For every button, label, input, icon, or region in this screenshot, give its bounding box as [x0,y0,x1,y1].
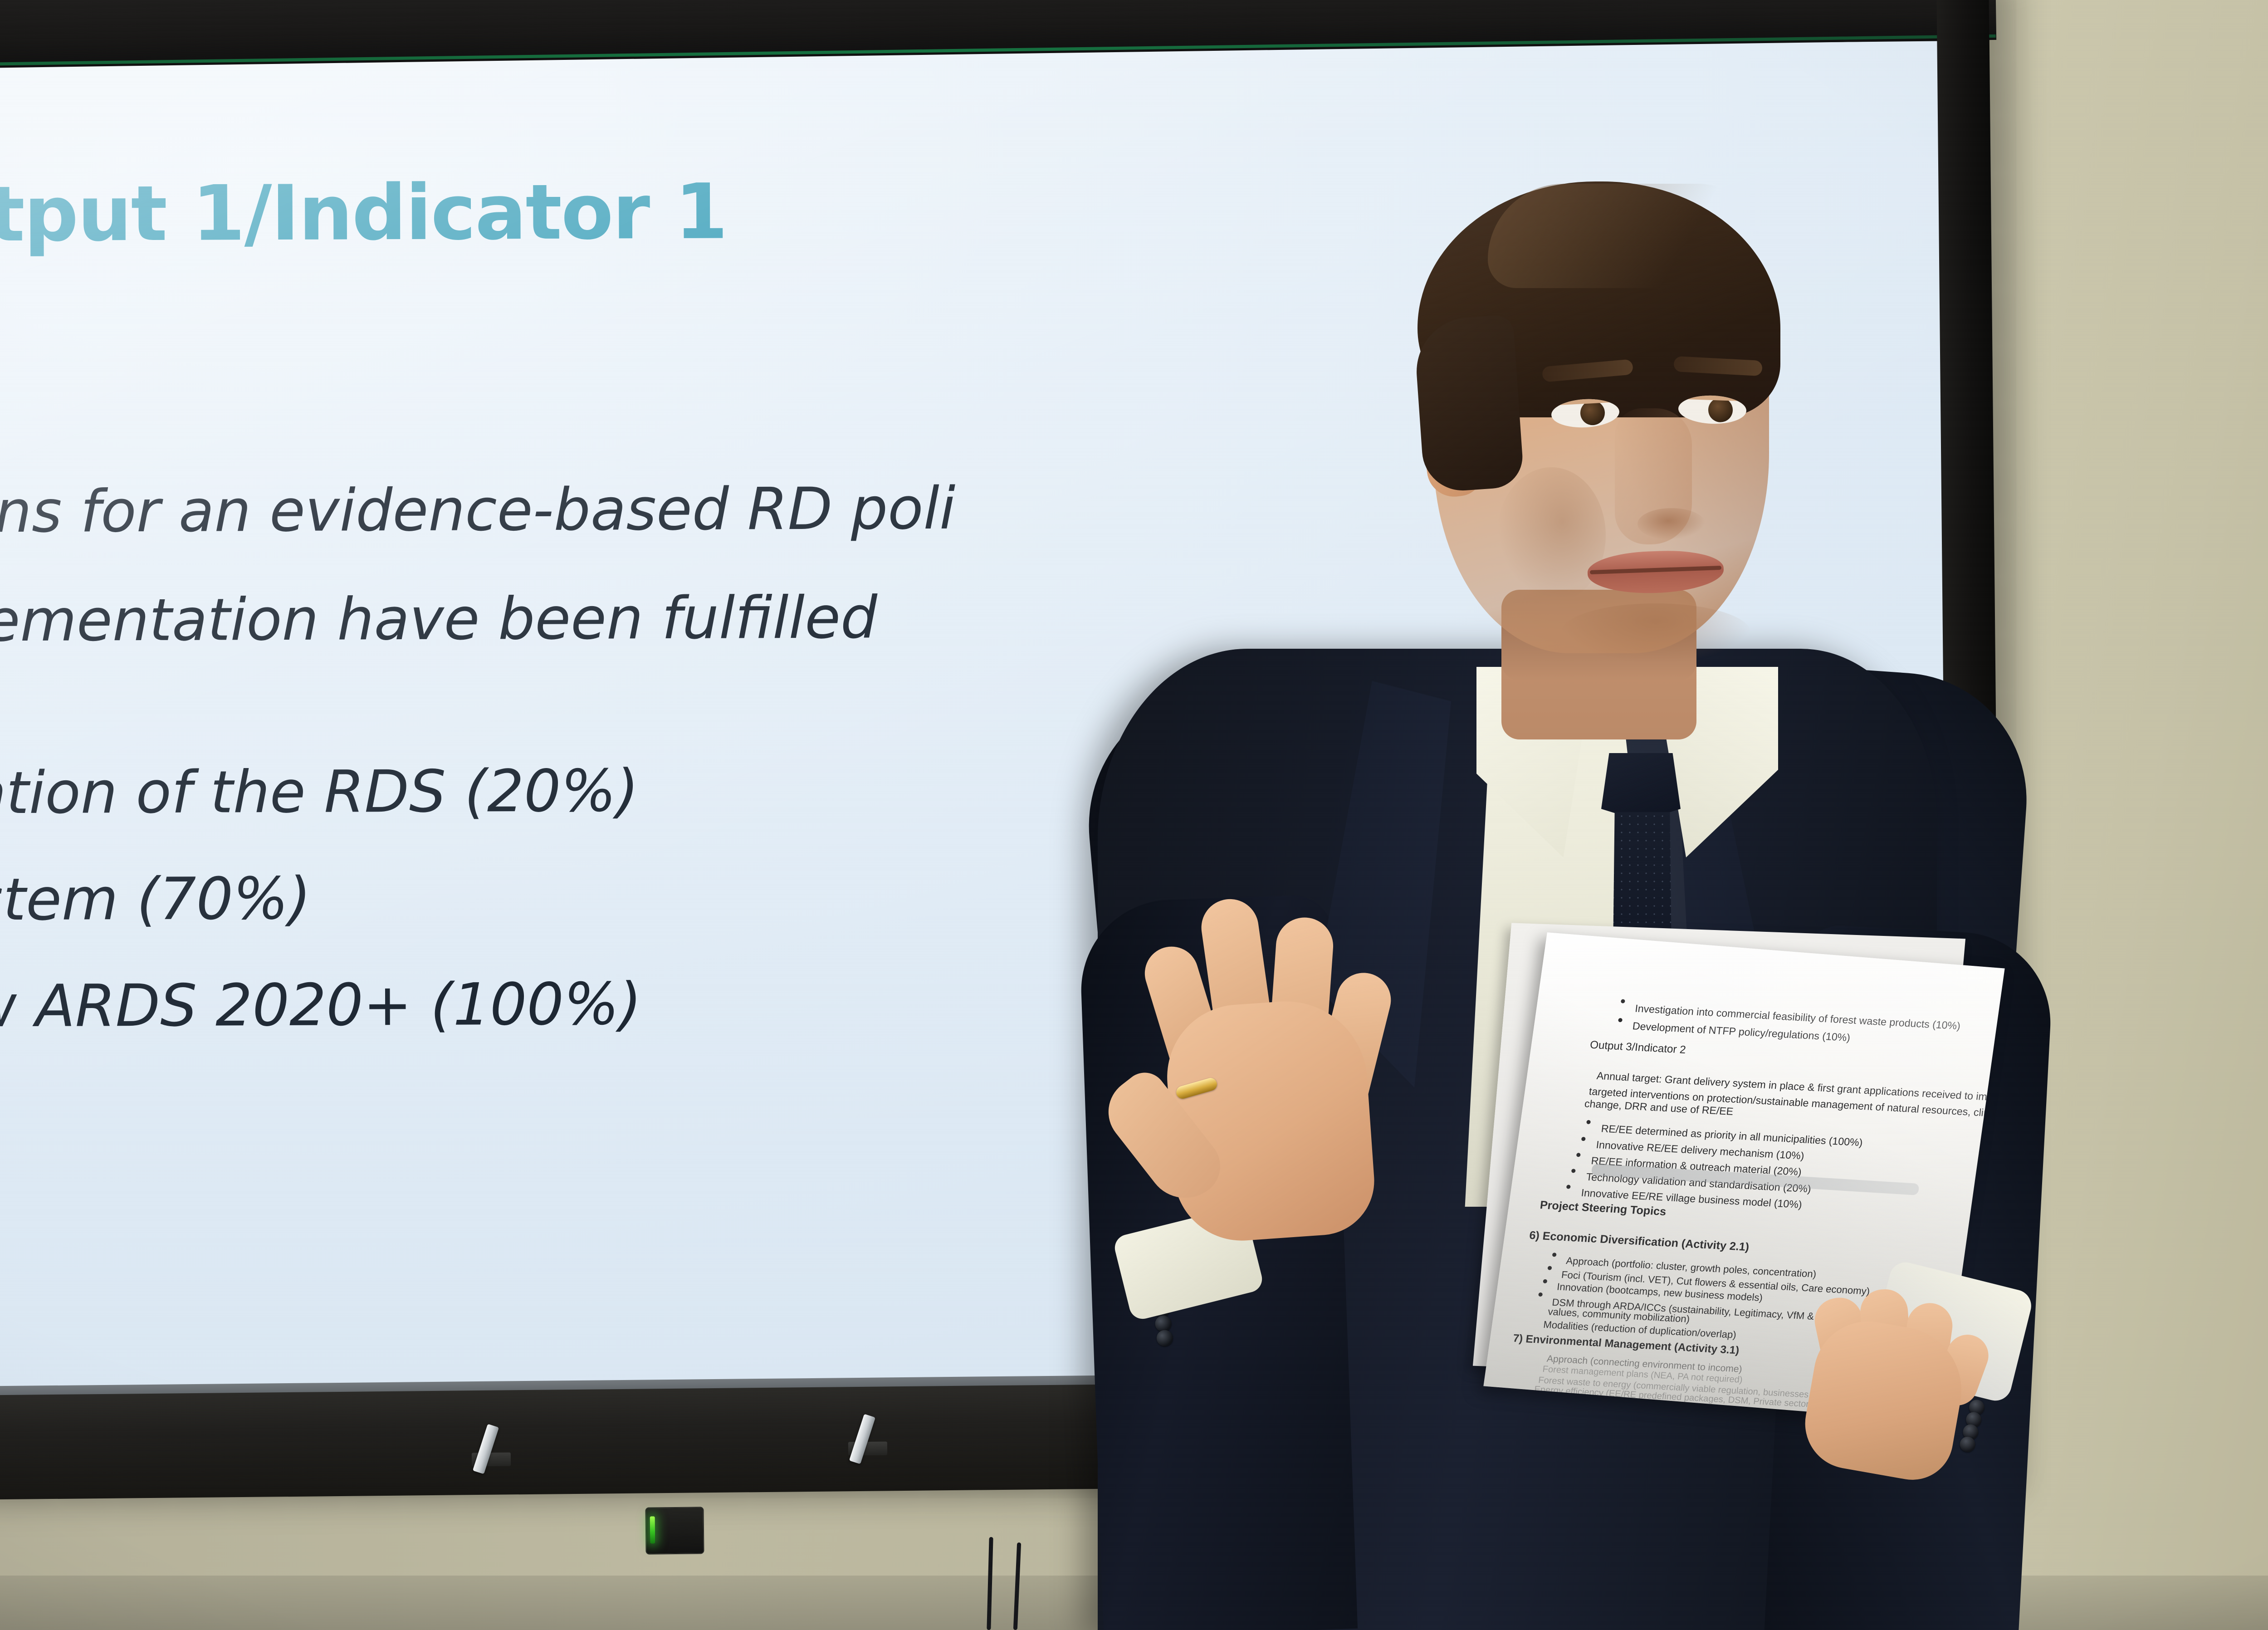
hair-sideburn [1413,314,1525,493]
presenter: Investigation into commercial feasibilit… [0,0,2268,1630]
nose-shadow [1637,508,1706,540]
paper-bullet-marker [1581,1137,1586,1141]
paper-topic-heading: 6) Economic Diversification (Activity 2.… [1529,1229,1750,1254]
hand-left-raised [1125,876,1433,1252]
jacket-button [1156,1329,1174,1347]
paper-bullet-marker [1621,999,1625,1003]
hair-highlight [1488,184,1760,288]
presentation-photo-scene: Output 1/Indicator 1 get onditions for a… [0,0,2268,1630]
paper-bullet-marker [1566,1185,1571,1189]
chin-shadow [1560,603,1751,662]
paper-bullet-marker [1576,1153,1581,1157]
paper-bullet-marker [1618,1018,1623,1023]
iris-left [1580,400,1606,426]
necktie-knot [1601,753,1681,821]
paper-bullet-marker [1552,1253,1557,1257]
palm-left [1162,996,1378,1245]
cheek-shadow [1497,467,1606,603]
paper-bullet-marker [1571,1169,1576,1173]
paper-bullet-marker [1586,1120,1591,1125]
paper-heading: Output 3/Indicator 2 [1589,1039,1686,1057]
paper-bullet-marker [1547,1266,1552,1270]
paper-bullet-marker [1538,1292,1543,1297]
paper-bullet-marker [1543,1279,1547,1283]
hand-right-holding-paper [1783,1270,2019,1524]
iris-right [1708,397,1733,423]
